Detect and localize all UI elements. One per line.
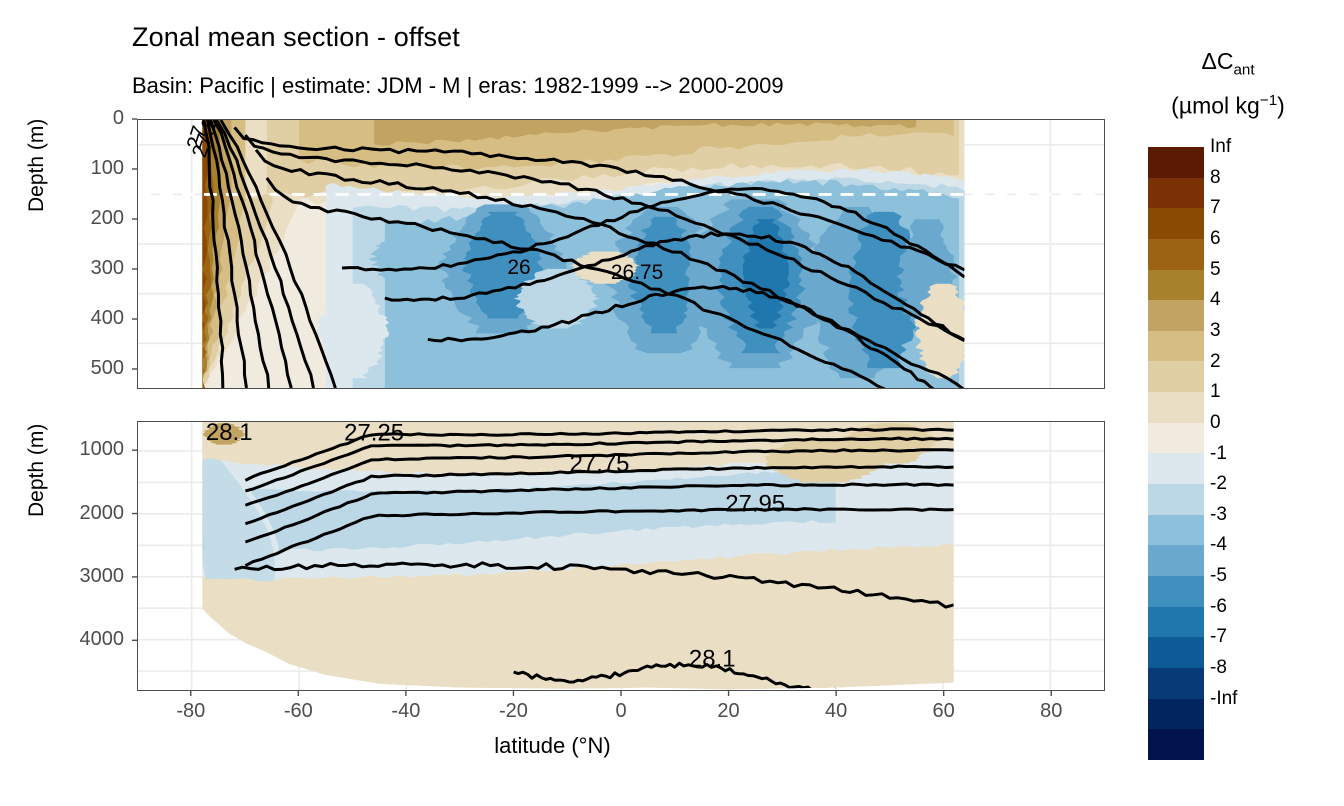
- colorbar-swatch-0[interactable]: [1148, 147, 1204, 178]
- colorbar-swatch-2[interactable]: [1148, 208, 1204, 239]
- colorbar-label-7: -7: [1210, 626, 1227, 648]
- page-title: Zonal mean section - offset: [132, 22, 460, 53]
- x-tick-0: 0: [586, 700, 656, 723]
- colorbar-label-0: 0: [1210, 412, 1221, 434]
- lower-section-panel: 28.127.2527.7527.9528.1: [137, 421, 1105, 691]
- colorbar-swatch-5[interactable]: [1148, 300, 1204, 331]
- colorbar-label-3: -3: [1210, 504, 1227, 526]
- colorbar-swatch-16[interactable]: [1148, 637, 1204, 668]
- x-tick--80: -80: [156, 700, 226, 723]
- plot-subtitle: Basin: Pacific | estimate: JDM - M | era…: [132, 73, 784, 99]
- legend-title-delta: ΔC: [1201, 48, 1233, 74]
- colorbar-label-5: -5: [1210, 565, 1227, 587]
- colorbar-swatch-12[interactable]: [1148, 515, 1204, 546]
- legend-title-subscript: ant: [1233, 62, 1254, 79]
- colorbar-swatches[interactable]: [1148, 147, 1204, 760]
- colorbar-label-6: -6: [1210, 596, 1227, 618]
- upper-filled-contours: [197, 120, 972, 388]
- colorbar-label-1: 1: [1210, 381, 1221, 403]
- colorbar-swatch-10[interactable]: [1148, 453, 1204, 484]
- colorbar-swatch-9[interactable]: [1148, 423, 1204, 454]
- y-tick-lower-4000: 4000: [40, 628, 124, 651]
- y-tick-lower-3000: 3000: [40, 565, 124, 588]
- colorbar-label-Inf: -Inf: [1210, 688, 1237, 710]
- colorbar-label-4: -4: [1210, 534, 1227, 556]
- upper-panel-field: 2626.7527.2527.75: [138, 120, 1104, 388]
- colorbar-label-2: 2: [1210, 351, 1221, 373]
- x-tick-60: 60: [909, 700, 979, 723]
- colorbar-swatch-6[interactable]: [1148, 331, 1204, 362]
- y-tick-upper-500: 500: [40, 357, 124, 380]
- y-tick-upper-0: 0: [40, 107, 124, 130]
- colorbar-swatch-14[interactable]: [1148, 576, 1204, 607]
- colorbar-label-5: 5: [1210, 259, 1221, 281]
- colorbar-swatch-8[interactable]: [1148, 392, 1204, 423]
- y-tick-upper-200: 200: [40, 207, 124, 230]
- y-tick-lower-2000: 2000: [40, 502, 124, 525]
- contour-label-26: 26: [507, 256, 530, 279]
- contour-label-27.95: 27.95: [725, 490, 785, 517]
- colorbar-label-2: -2: [1210, 473, 1227, 495]
- y-tick-upper-400: 400: [40, 307, 124, 330]
- x-axis-title: latitude (°N): [0, 733, 1105, 759]
- colorbar-label-7: 7: [1210, 197, 1221, 219]
- y-tick-lower-1000: 1000: [40, 438, 124, 461]
- x-tick--60: -60: [263, 700, 333, 723]
- colorbar-label-3: 3: [1210, 320, 1221, 342]
- colorbar-swatch-1[interactable]: [1148, 178, 1204, 209]
- colorbar-swatch-7[interactable]: [1148, 361, 1204, 392]
- y-tick-upper-300: 300: [40, 257, 124, 280]
- x-tick-20: 20: [694, 700, 764, 723]
- legend-units-exponent: −1: [1260, 92, 1277, 109]
- y-tick-upper-100: 100: [40, 157, 124, 180]
- colorbar-swatch-3[interactable]: [1148, 239, 1204, 270]
- contour-label-26.75: 26.75: [611, 261, 663, 284]
- lower-panel-field: 28.127.2527.7527.9528.1: [138, 422, 1104, 690]
- x-tick--20: -20: [478, 700, 548, 723]
- colorbar-swatch-18[interactable]: [1148, 699, 1204, 730]
- colorbar-label-6: 6: [1210, 228, 1221, 250]
- x-tick-40: 40: [801, 700, 871, 723]
- colorbar-legend: ΔCant (µmol kg−1) Inf876543210-1-2-3-4-5…: [1128, 20, 1344, 780]
- legend-units-close: ): [1277, 93, 1285, 119]
- colorbar-swatch-15[interactable]: [1148, 607, 1204, 638]
- x-tick--40: -40: [371, 700, 441, 723]
- colorbar-label-4: 4: [1210, 289, 1221, 311]
- colorbar-label-Inf: Inf: [1210, 136, 1231, 158]
- colorbar-swatch-13[interactable]: [1148, 545, 1204, 576]
- colorbar-swatch-11[interactable]: [1148, 484, 1204, 515]
- contour-label-28.1: 28.1: [206, 422, 253, 446]
- legend-title: ΔCant: [1128, 48, 1328, 79]
- contour-label-27.25: 27.25: [344, 422, 404, 447]
- legend-units: (µmol kg−1): [1128, 92, 1328, 120]
- colorbar-label-1: -1: [1210, 443, 1227, 465]
- colorbar-label-8: 8: [1210, 167, 1221, 189]
- contour-label-28.1: 28.1: [689, 646, 736, 673]
- colorbar-swatch-17[interactable]: [1148, 668, 1204, 699]
- colorbar-swatch-19[interactable]: [1148, 729, 1204, 760]
- colorbar-swatch-4[interactable]: [1148, 270, 1204, 301]
- colorbar-label-8: -8: [1210, 657, 1227, 679]
- figure-root: Zonal mean section - offset Basin: Pacif…: [0, 0, 1344, 806]
- contour-label-27.75: 27.75: [570, 451, 630, 478]
- x-tick-80: 80: [1016, 700, 1086, 723]
- upper-section-panel: 2626.7527.2527.75: [137, 119, 1105, 389]
- legend-units-open: (µmol kg: [1171, 93, 1260, 119]
